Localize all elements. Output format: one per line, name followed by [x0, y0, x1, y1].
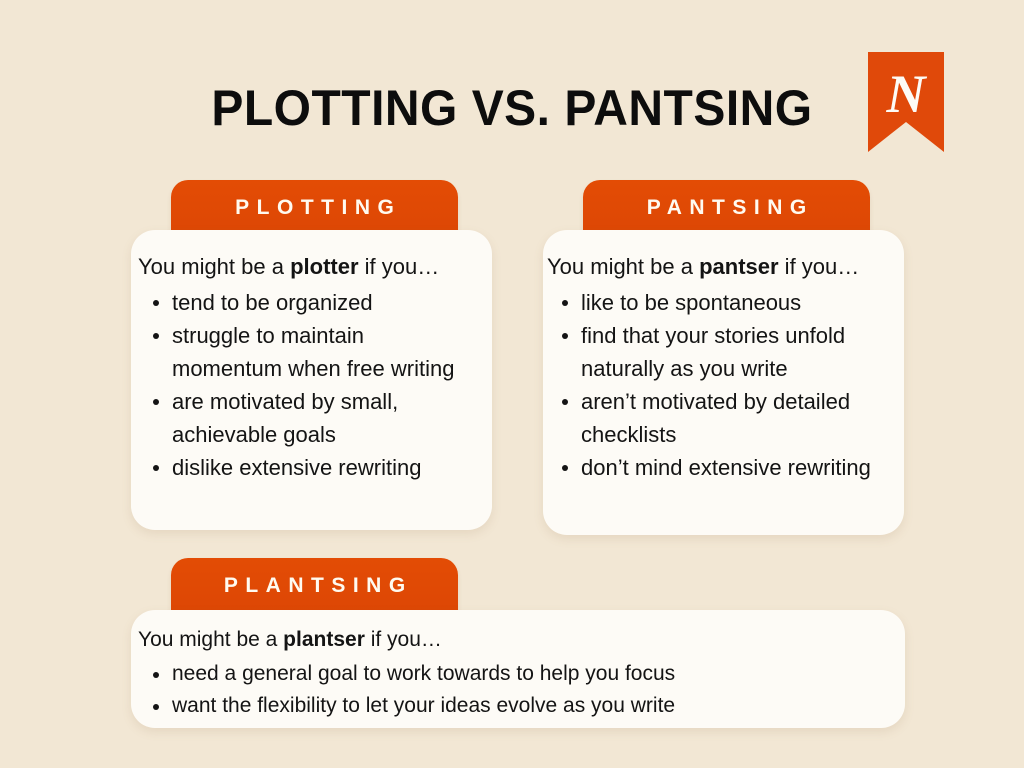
lead-suffix: if you…	[779, 254, 860, 279]
list-item: don’t mind extensive rewriting	[581, 451, 890, 484]
lead-suffix: if you…	[359, 254, 440, 279]
header: PLOTTING VS. PANTSING N	[0, 0, 1024, 168]
lead-prefix: You might be a	[138, 628, 283, 651]
card-tab-pantsing: PANTSING	[583, 180, 870, 235]
nanowrimo-bookmark-logo: N	[868, 52, 944, 152]
card-tab-plotting: PLOTTING	[171, 180, 458, 235]
card-bullet-list-plotting: tend to be organized struggle to maintai…	[138, 286, 474, 484]
lead-prefix: You might be a	[547, 254, 699, 279]
list-item: find that your stories unfold naturally …	[581, 319, 890, 385]
lead-bold-term: plotter	[290, 254, 358, 279]
card-body-plantsing: You might be a plantser if you… need a g…	[131, 610, 905, 728]
card-tab-label: PLANTSING	[216, 575, 412, 596]
page-title: PLOTTING VS. PANTSING	[20, 78, 1003, 138]
list-item: like to be spontaneous	[581, 286, 890, 319]
card-tab-plantsing: PLANTSING	[171, 558, 458, 613]
list-item: are motivated by small, achievable goals	[172, 385, 474, 451]
lead-bold-term: pantser	[699, 254, 778, 279]
lead-bold-term: plantser	[283, 628, 365, 651]
card-lead-plotting: You might be a plotter if you…	[138, 252, 474, 282]
list-item: want the flexibility to let your ideas e…	[172, 690, 887, 722]
card-bullet-list-plantsing: need a general goal to work towards to h…	[138, 658, 887, 722]
list-item: tend to be organized	[172, 286, 474, 319]
card-bullet-list-pantsing: like to be spontaneous find that your st…	[547, 286, 890, 484]
card-tab-label: PANTSING	[639, 197, 813, 218]
list-item: need a general goal to work towards to h…	[172, 658, 887, 690]
bookmark-icon: N	[868, 52, 944, 152]
logo-letter: N	[886, 64, 928, 124]
card-body-pantsing: You might be a pantser if you… like to b…	[543, 230, 904, 535]
card-lead-plantsing: You might be a plantser if you…	[138, 626, 887, 654]
card-tab-label: PLOTTING	[228, 197, 402, 218]
card-lead-pantsing: You might be a pantser if you…	[547, 252, 890, 282]
list-item: struggle to maintain momentum when free …	[172, 319, 474, 385]
card-body-plotting: You might be a plotter if you… tend to b…	[131, 230, 492, 530]
lead-prefix: You might be a	[138, 254, 290, 279]
list-item: dislike extensive rewriting	[172, 451, 474, 484]
lead-suffix: if you…	[365, 628, 442, 651]
list-item: aren’t motivated by detailed checklists	[581, 385, 890, 451]
